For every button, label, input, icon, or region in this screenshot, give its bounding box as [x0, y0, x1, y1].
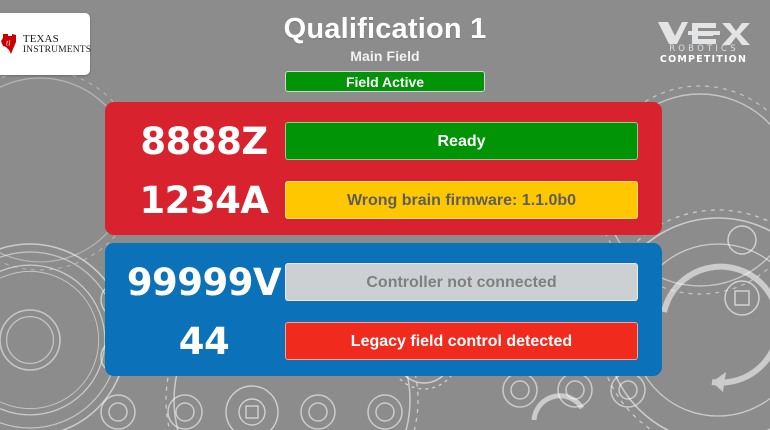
team-number: 44	[123, 320, 285, 363]
table-row: 1234A Wrong brain firmware: 1.1.0b0	[123, 173, 638, 227]
field-name-label: Main Field	[0, 48, 770, 64]
status-badge: Wrong brain firmware: 1.1.0b0	[285, 181, 638, 219]
table-row: 8888Z Ready	[123, 114, 638, 168]
table-row: 44 Legacy field control detected	[123, 314, 638, 368]
status-badge: Controller not connected	[285, 263, 638, 301]
team-number: 1234A	[123, 179, 285, 222]
field-status-badge: Field Active	[285, 71, 485, 92]
team-number: 8888Z	[123, 120, 285, 163]
match-title: Qualification 1	[0, 14, 770, 44]
status-badge: Legacy field control detected	[285, 322, 638, 360]
status-badge: Ready	[285, 122, 638, 160]
team-number: 99999V	[123, 261, 285, 304]
blue-alliance-panel: 99999V Controller not connected 44 Legac…	[105, 243, 662, 376]
red-alliance-panel: 8888Z Ready 1234A Wrong brain firmware: …	[105, 102, 662, 235]
table-row: 99999V Controller not connected	[123, 255, 638, 309]
field-control-display: ti TEXAS INSTRUMENTS ROBOTICS COMPETITIO…	[0, 0, 770, 430]
match-header: Qualification 1 Main Field Field Active	[0, 14, 770, 92]
